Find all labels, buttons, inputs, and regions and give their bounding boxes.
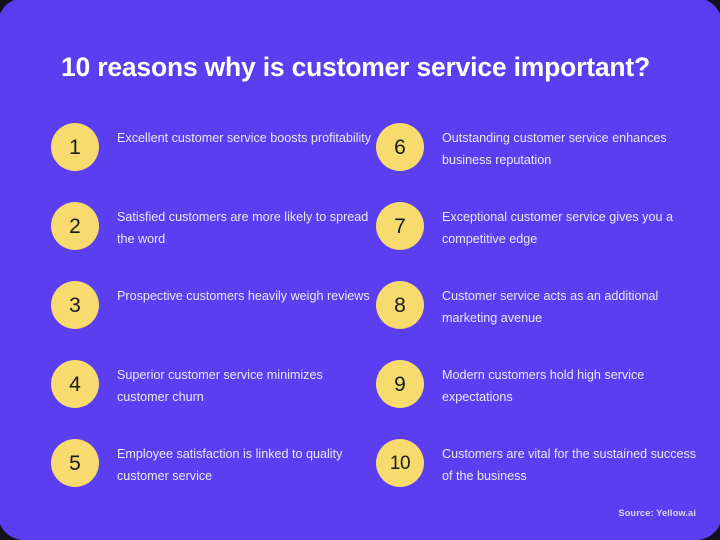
item-label: Employee satisfaction is linked to quali… <box>117 443 375 487</box>
item-number-badge: 1 <box>51 123 99 171</box>
item-number-badge: 6 <box>376 123 424 171</box>
item-number-badge: 4 <box>51 360 99 408</box>
list-item: 10 Customers are vital for the sustained… <box>376 439 706 487</box>
item-number-badge: 7 <box>376 202 424 250</box>
item-label: Excellent customer service boosts profit… <box>117 127 375 149</box>
list-item: 8 Customer service acts as an additional… <box>376 281 706 329</box>
item-number-badge: 2 <box>51 202 99 250</box>
item-label: Prospective customers heavily weigh revi… <box>117 285 375 307</box>
item-label: Outstanding customer service enhances bu… <box>442 127 700 171</box>
list-item: 4 Superior customer service minimizes cu… <box>51 360 381 408</box>
item-number-badge: 9 <box>376 360 424 408</box>
item-label: Customer service acts as an additional m… <box>442 285 700 329</box>
list-item: 7 Exceptional customer service gives you… <box>376 202 706 250</box>
item-number-badge: 10 <box>376 439 424 487</box>
list-item: 3 Prospective customers heavily weigh re… <box>51 281 381 329</box>
item-label: Satisfied customers are more likely to s… <box>117 206 375 250</box>
item-number-badge: 8 <box>376 281 424 329</box>
item-number-badge: 5 <box>51 439 99 487</box>
list-item: 2 Satisfied customers are more likely to… <box>51 202 381 250</box>
page-title: 10 reasons why is customer service impor… <box>61 52 650 83</box>
item-label: Superior customer service minimizes cust… <box>117 364 375 408</box>
list-item: 5 Employee satisfaction is linked to qua… <box>51 439 381 487</box>
list-item: 1 Excellent customer service boosts prof… <box>51 123 381 171</box>
list-item: 6 Outstanding customer service enhances … <box>376 123 706 171</box>
list-item: 9 Modern customers hold high service exp… <box>376 360 706 408</box>
source-attribution: Source: Yellow.ai <box>618 508 696 518</box>
item-number-badge: 3 <box>51 281 99 329</box>
item-label: Customers are vital for the sustained su… <box>442 443 700 487</box>
item-label: Exceptional customer service gives you a… <box>442 206 700 250</box>
infographic-card: 10 reasons why is customer service impor… <box>0 0 720 540</box>
item-label: Modern customers hold high service expec… <box>442 364 700 408</box>
